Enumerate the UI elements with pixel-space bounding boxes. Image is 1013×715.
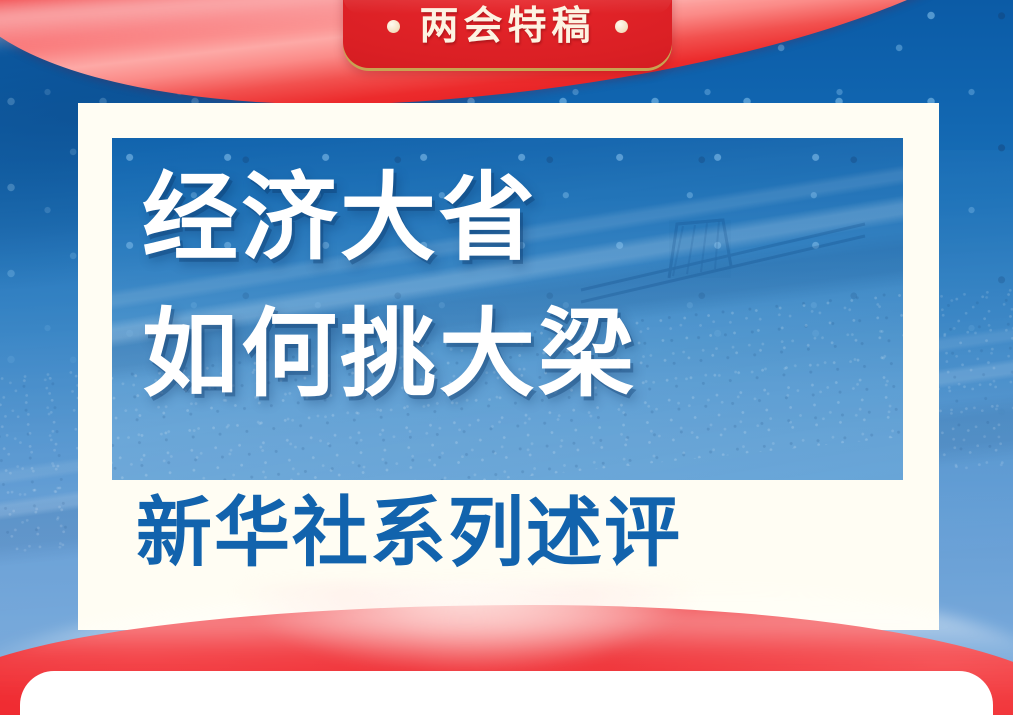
subtitle: 新华社系列述评 — [136, 495, 682, 571]
headline-panel: 经济大省 如何挑大梁 — [112, 138, 903, 480]
section-badge-label: 两会特稿 — [343, 2, 672, 50]
headline-line-1: 经济大省 — [142, 150, 637, 286]
page-title: 经济大省 如何挑大梁 — [142, 150, 637, 423]
section-badge: 两会特稿 — [343, 0, 672, 68]
red-ribbon-bottom-dip — [236, 583, 696, 673]
bottom-content-panel — [20, 671, 993, 715]
content-frame-card: 经济大省 如何挑大梁 新华社系列述评 — [78, 103, 939, 630]
poster-root: 经济大省 如何挑大梁 新华社系列述评 两会特稿 — [0, 0, 1013, 715]
headline-line-2: 如何挑大梁 — [142, 286, 637, 422]
